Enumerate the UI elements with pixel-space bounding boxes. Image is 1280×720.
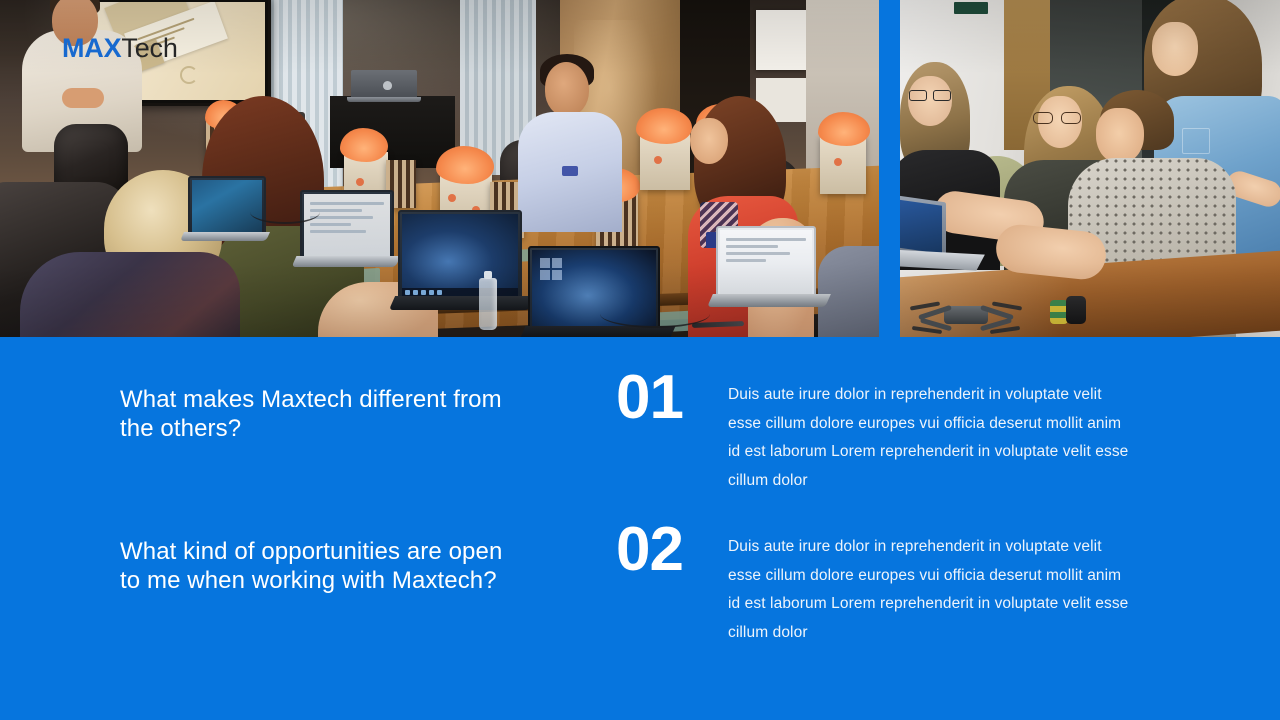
tissue-paper bbox=[818, 112, 870, 146]
logo-text-max: MAX bbox=[62, 33, 121, 63]
faq-answer: Duis aute irure dolor in reprehenderit i… bbox=[728, 533, 1133, 647]
logo-text-tech: Tech bbox=[121, 33, 177, 63]
faq-number-badge: 02 bbox=[616, 519, 683, 581]
presenter-hands bbox=[62, 88, 104, 108]
person-right-face bbox=[1096, 108, 1144, 164]
tissue-paper bbox=[636, 108, 692, 144]
faq-answer: Duis aute irure dolor in reprehenderit i… bbox=[728, 381, 1133, 495]
macbook-laptop bbox=[347, 70, 421, 102]
attendee-blue-shirt-head bbox=[545, 62, 589, 116]
wall-poster bbox=[756, 10, 806, 70]
eyeglasses-icon bbox=[1033, 112, 1079, 122]
eyeglasses-icon bbox=[909, 90, 949, 99]
smart-watch bbox=[1066, 296, 1086, 324]
drone bbox=[914, 296, 1020, 336]
attendee-red-top-face bbox=[690, 118, 728, 164]
attendee-edge bbox=[818, 246, 879, 337]
photo-team-around-laptop bbox=[900, 0, 1280, 337]
faq-number-badge: 01 bbox=[616, 367, 683, 429]
windows-logo-icon bbox=[540, 258, 562, 280]
faq-section: What makes Maxtech different from the ot… bbox=[0, 337, 1280, 720]
faq-question: What kind of opportunities are open to m… bbox=[120, 537, 520, 595]
team-collaboration-scene bbox=[900, 0, 1280, 337]
laptop-open bbox=[900, 198, 984, 272]
wall-sign bbox=[954, 2, 988, 14]
photo-band: MAXTech bbox=[0, 0, 1280, 337]
attendee-blond-torso bbox=[20, 252, 240, 337]
tissue-paper bbox=[340, 128, 388, 162]
person-standing-face bbox=[1152, 22, 1198, 76]
attendee-name-badge bbox=[562, 166, 578, 176]
water-bottle-clear bbox=[479, 278, 497, 330]
apple-logo-icon bbox=[383, 81, 392, 90]
faq-question: What makes Maxtech different from the ot… bbox=[120, 385, 520, 443]
tissue-paper bbox=[436, 146, 494, 184]
person-left-face bbox=[908, 76, 952, 126]
slide-root: MAXTech What makes Maxtech different fro… bbox=[0, 0, 1280, 720]
brand-logo[interactable]: MAXTech bbox=[62, 35, 178, 62]
